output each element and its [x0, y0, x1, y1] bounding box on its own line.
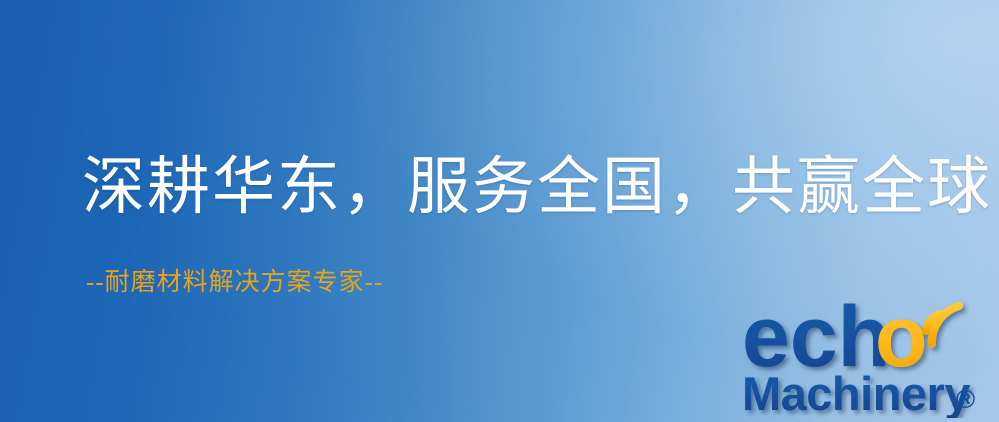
page-subtitle: --耐磨材料解决方案专家--	[86, 268, 383, 298]
signal-waves-icon	[926, 306, 959, 344]
brand-logo[interactable]: ech o Machinery ®	[742, 296, 992, 418]
logo-subtitle-text: Machinery	[742, 367, 970, 418]
logo-subtitle: Machinery	[742, 367, 970, 418]
hero-banner: 深耕华东，服务全国，共赢全球 --耐磨材料解决方案专家--	[0, 0, 999, 422]
registered-trademark-icon: ®	[956, 384, 975, 414]
page-title: 深耕华东，服务全国，共赢全球	[82, 152, 992, 223]
